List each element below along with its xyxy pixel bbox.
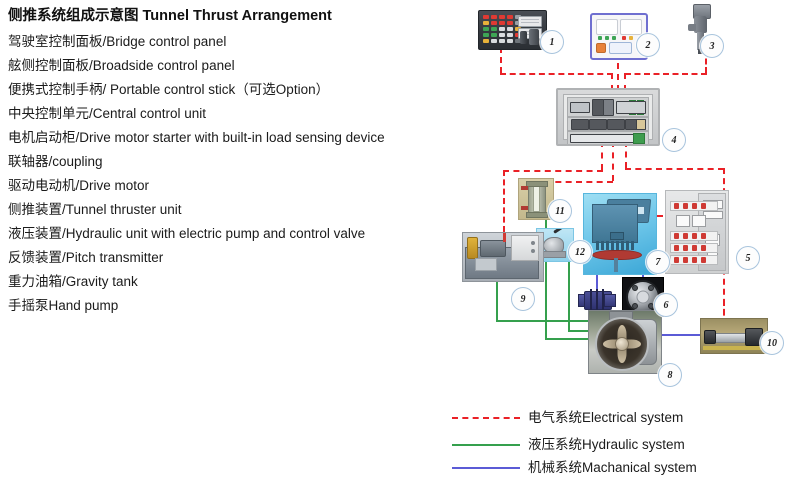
valve-indicator-1	[531, 241, 535, 245]
relay-1	[571, 119, 589, 130]
badge-12: 12	[568, 240, 592, 264]
electrical-line-panel1-down	[500, 47, 502, 73]
selector-knob[interactable]	[520, 31, 527, 44]
diagram-canvas: 侧推系统组成示意图 Tunnel Thrust Arrangement 驾驶室控…	[0, 0, 788, 490]
electrical-line-panel1-right	[500, 73, 613, 75]
component-list: 侧推系统组成示意图 Tunnel Thrust Arrangement 驾驶室控…	[8, 6, 458, 318]
gearbox-fin-1	[590, 289, 592, 310]
hood-vent-4	[637, 206, 645, 215]
hydraulic-line-hpu-right	[496, 320, 590, 322]
breaker-row-1	[670, 201, 718, 211]
filter-housing	[467, 237, 478, 259]
display-right	[620, 19, 642, 35]
transmitter-clevis	[704, 330, 716, 344]
list-item-8: 侧推装置/Tunnel thruster unit	[8, 198, 458, 222]
panel-button-left[interactable]	[596, 43, 606, 53]
list-item-3: 便携式控制手柄/ Portable control stick（可选Option…	[8, 78, 458, 102]
led-1	[598, 36, 602, 40]
electrical-line-to-hpu	[503, 170, 505, 232]
output-shaft	[614, 258, 618, 272]
pump-base	[542, 251, 566, 258]
electrical-line-ccu-c-right	[625, 168, 724, 170]
list-item-6: 联轴器/coupling	[8, 150, 458, 174]
badge-1: 1	[540, 30, 564, 54]
badge-5: 5	[736, 246, 760, 270]
thruster-duct	[595, 317, 649, 371]
node-tunnel-thruster[interactable]	[588, 310, 662, 374]
list-item-9: 液压装置/Hydraulic unit with electric pump a…	[8, 222, 458, 246]
list-item-12: 手摇泵Hand pump	[8, 294, 458, 318]
led-2	[605, 36, 609, 40]
breaker-row-4	[670, 255, 718, 265]
coupling-center	[637, 291, 650, 304]
coupling-bolt-1	[632, 285, 638, 291]
node-pitch-transmitter[interactable]	[700, 318, 768, 354]
base-plate	[703, 346, 765, 350]
sight-glass	[533, 186, 540, 212]
cabinet-row-top	[567, 97, 649, 117]
list-item-5: 电机启动柜/Drive motor starter with built-in …	[8, 126, 458, 150]
led-4	[622, 36, 626, 40]
relay-5	[636, 119, 646, 130]
list-item-10: 反馈装置/Pitch transmitter	[8, 246, 458, 270]
badge-11: 11	[548, 199, 572, 223]
contactor-a	[676, 215, 690, 227]
io-strip	[616, 101, 646, 114]
terminal-rail	[570, 134, 634, 143]
tank-cap-bottom	[526, 212, 548, 218]
tank-cap-top	[526, 181, 548, 187]
relay-2	[589, 119, 607, 130]
node-motor-starter-cabinet[interactable]	[665, 190, 729, 274]
badge-3: 3	[700, 34, 724, 58]
list-item-7: 驱动电动机/Drive motor	[8, 174, 458, 198]
badge-7: 7	[646, 250, 670, 274]
breaker-row-3	[670, 243, 718, 253]
hydraulic-line-tank-right	[545, 338, 590, 340]
legend-swatch-electrical	[452, 417, 520, 419]
green-terminal	[633, 133, 645, 144]
led-5	[629, 36, 633, 40]
cabinet-row-mid	[567, 117, 649, 131]
legend-swatch-hydraulic	[452, 444, 520, 446]
contactor-b	[692, 215, 706, 227]
list-item-1: 驾驶室控制面板/Bridge control panel	[8, 30, 458, 54]
tank-port-bottom	[521, 206, 528, 210]
badge-8: 8	[658, 363, 682, 387]
node-gearbox	[578, 288, 616, 312]
cabinet-row-bottom	[567, 131, 649, 145]
electrical-line-ccu-b-left	[545, 181, 613, 183]
list-item-2: 舷侧控制面板/Broadside control panel	[8, 54, 458, 78]
electrical-line-stick-left	[625, 73, 707, 75]
valve-indicator-2	[531, 249, 535, 253]
legend-label-electrical: 电气系统Electrical system	[528, 409, 683, 427]
pressure-gauge-stem	[503, 233, 506, 242]
badge-10: 10	[760, 331, 784, 355]
cooling-fins	[596, 241, 634, 250]
pump-motor	[480, 240, 506, 257]
hydraulic-line-pump-right	[568, 330, 590, 332]
list-item-4: 中央控制单元/Central control unit	[8, 102, 458, 126]
page-title: 侧推系统组成示意图 Tunnel Thrust Arrangement	[8, 6, 458, 26]
node-hydraulic-unit[interactable]	[462, 232, 544, 282]
display-left	[596, 19, 618, 35]
motor-nameplate	[610, 232, 624, 240]
legend-label-mechanical: 机械系统Machanical system	[528, 459, 697, 477]
legend-swatch-mechanical	[452, 467, 520, 469]
breaker-row-2	[670, 231, 718, 241]
badge-2: 2	[636, 33, 660, 57]
control-valve-box[interactable]	[511, 235, 539, 261]
badge-4: 4	[662, 128, 686, 152]
terminal-block	[570, 102, 590, 113]
node-central-control-unit[interactable]	[556, 88, 660, 146]
joystick-knob[interactable]	[529, 29, 539, 45]
electrical-line-ccu-left	[503, 170, 603, 172]
node-bridge-control-panel[interactable]	[478, 10, 547, 50]
plc-module-b	[603, 99, 614, 116]
button-grid	[483, 15, 521, 43]
relay-3	[607, 119, 625, 130]
pump-lever[interactable]	[553, 228, 567, 234]
electrical-line-ccu-down-b	[612, 141, 614, 181]
tank-nameplate	[475, 258, 497, 271]
stick-grip	[688, 24, 696, 31]
coupling-bolt-3	[632, 303, 638, 309]
door-breaker-b	[703, 211, 723, 219]
tank-port-top	[521, 186, 528, 190]
badge-9: 9	[511, 287, 535, 311]
panel-button-center[interactable]	[609, 42, 632, 54]
list-item-11: 重力油箱/Gravity tank	[8, 270, 458, 294]
legend-label-hydraulic: 液压系统Hydraulic system	[528, 436, 685, 454]
badge-6: 6	[654, 293, 678, 317]
led-3	[612, 36, 616, 40]
mechanical-line-thruster-pt	[660, 334, 701, 336]
coupling-bolt-2	[648, 285, 654, 291]
display-window-top	[518, 16, 542, 27]
propeller-boss	[615, 337, 629, 351]
cabinet-interior	[563, 94, 653, 140]
gearbox-fin-3	[602, 289, 604, 310]
gearbox-fin-2	[596, 289, 598, 310]
gearbox-right-flange	[604, 294, 616, 307]
